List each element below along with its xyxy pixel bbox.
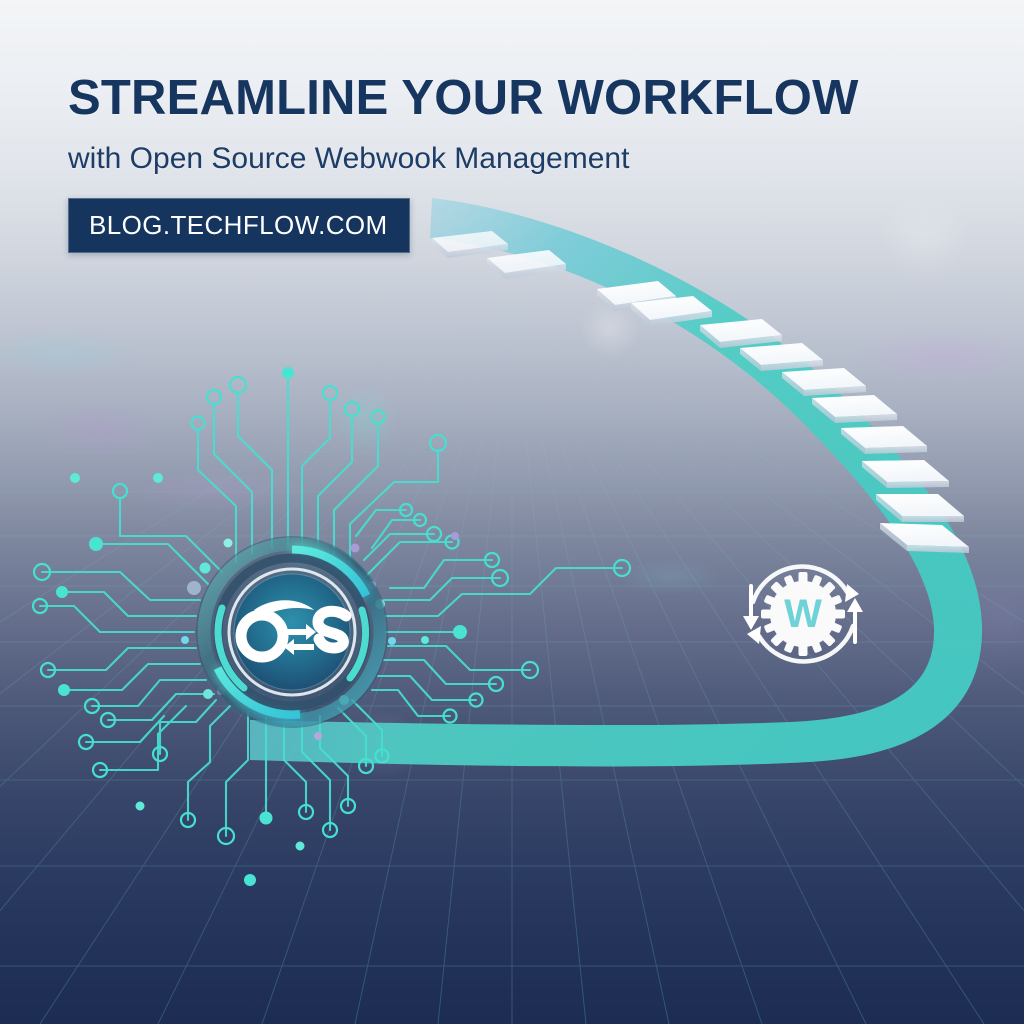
webhook-letter: W [784,592,822,636]
url-badge[interactable]: BLOG.TECHFLOW.COM [68,198,410,253]
url-badge-label: BLOG.TECHFLOW.COM [89,210,388,240]
poster-canvas: W STREAMLINE YOUR WORKFLOW with Open Sou… [0,0,1024,1024]
webhook-gear-node[interactable]: W [0,0,1024,1024]
